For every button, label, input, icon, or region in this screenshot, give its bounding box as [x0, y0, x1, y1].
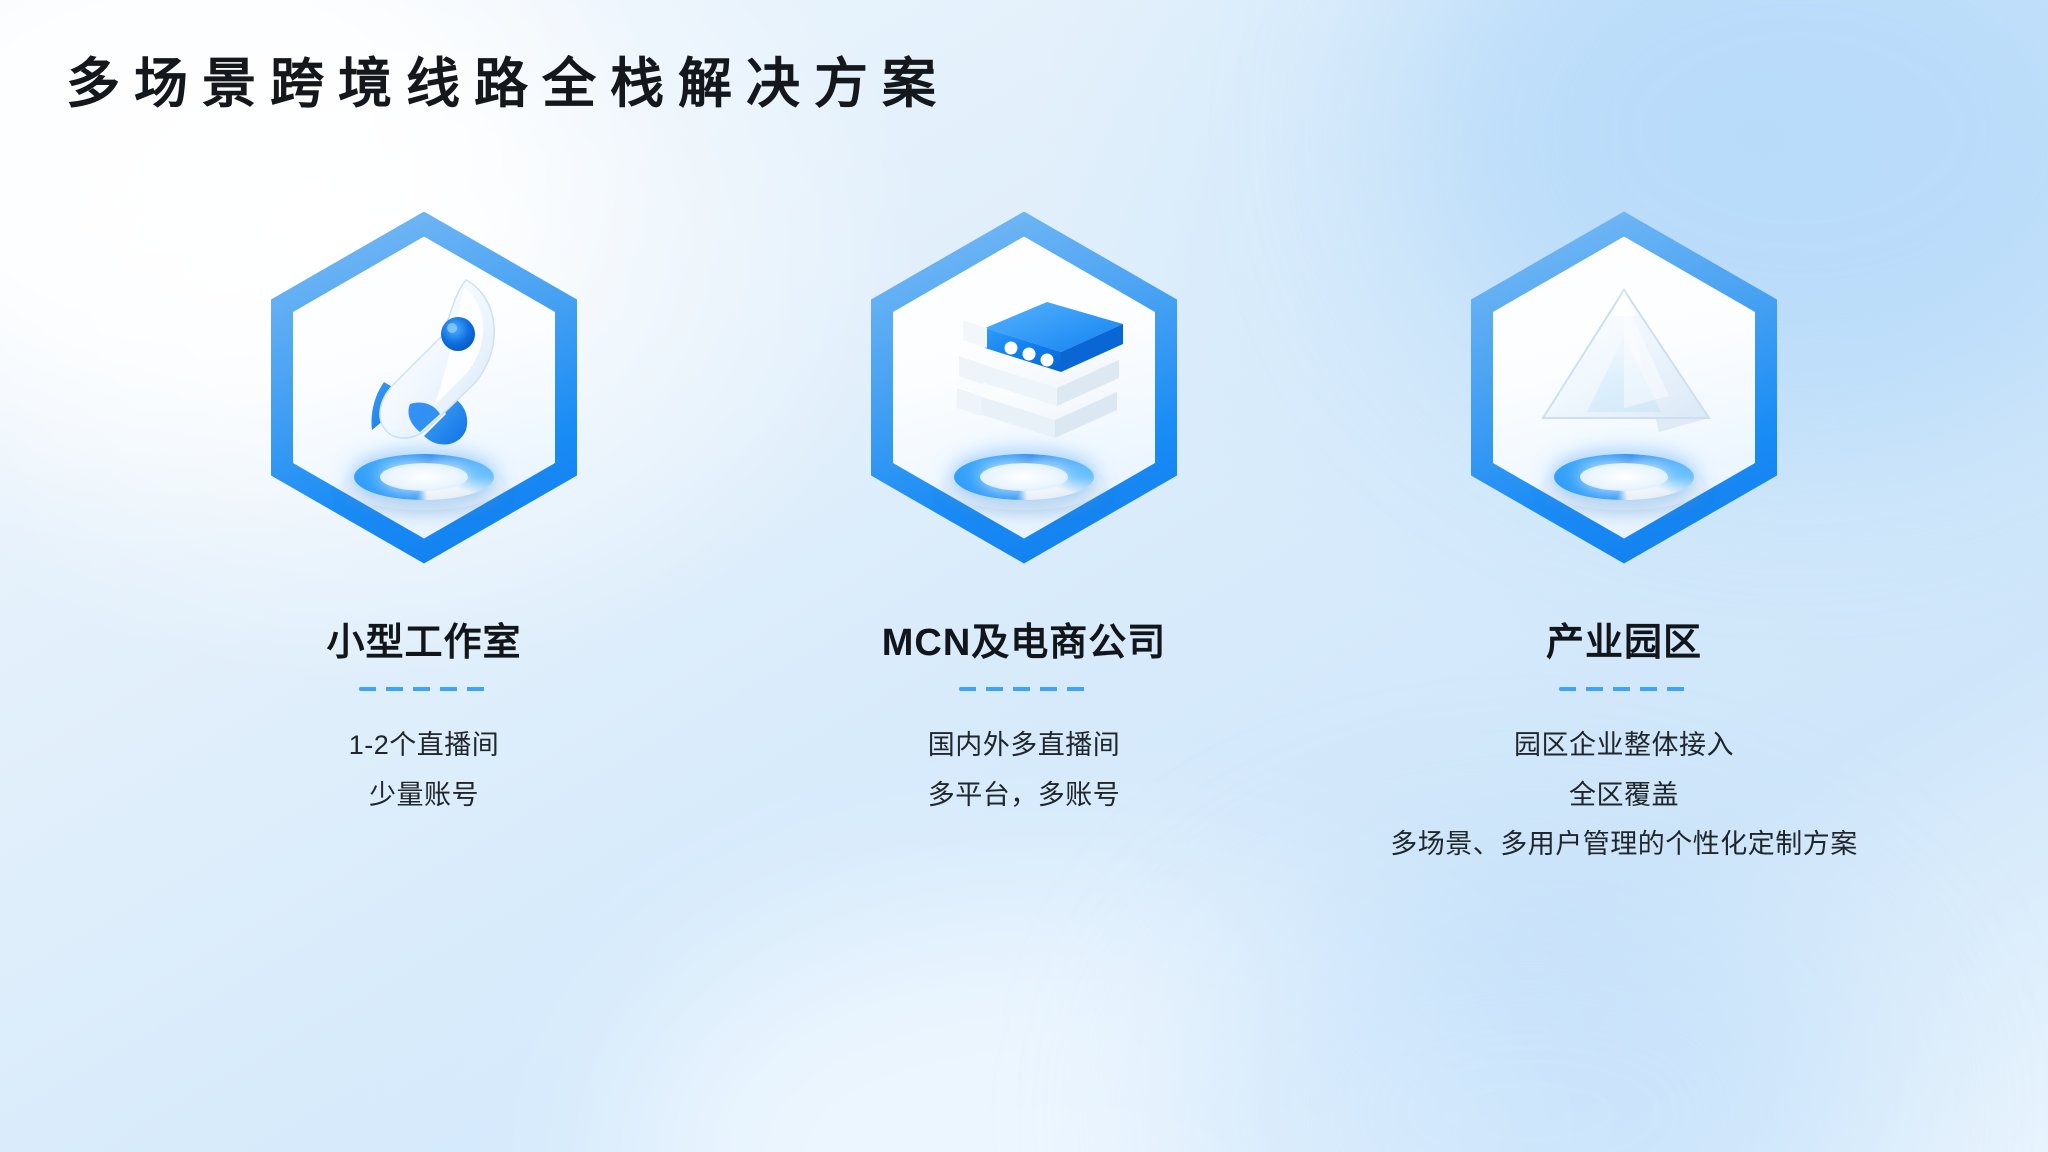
solution-card-small-studio[interactable]: 小型工作室 1-2个直播间 少量账号	[124, 200, 724, 820]
hexagon-badge-3	[1459, 200, 1789, 575]
card-body-line: 多场景、多用户管理的个性化定制方案	[1390, 820, 1858, 870]
card-body-line: 国内外多直播间	[928, 721, 1121, 771]
page-title: 多场景跨境线路全栈解决方案	[66, 52, 950, 117]
card-body-line: 全区覆盖	[1390, 771, 1858, 821]
slide-canvas: 多场景跨境线路全栈解决方案	[0, 0, 2048, 1152]
card-body: 园区企业整体接入 全区覆盖 多场景、多用户管理的个性化定制方案	[1390, 721, 1858, 871]
card-title: 小型工作室	[326, 621, 521, 667]
glow-disc-base-3	[1540, 450, 1708, 512]
solution-card-list: 小型工作室 1-2个直播间 少量账号	[0, 200, 2048, 870]
disc-ring-hole	[380, 463, 468, 491]
glow-disc-base-1	[340, 450, 508, 512]
card-body-line: 少量账号	[349, 771, 500, 821]
rocket-icon	[314, 264, 534, 464]
hexagon-badge-2	[859, 200, 1189, 575]
card-body: 国内外多直播间 多平台，多账号	[928, 721, 1121, 821]
icon-area-3	[1499, 258, 1749, 518]
card-divider	[359, 687, 489, 691]
card-body: 1-2个直播间 少量账号	[349, 721, 500, 821]
card-body-line: 园区企业整体接入	[1390, 721, 1858, 771]
background-glow-bottom-center	[614, 892, 1514, 1152]
card-title: 产业园区	[1546, 621, 1702, 667]
background-glow-bottom-right	[1184, 872, 1884, 1152]
card-divider	[959, 687, 1089, 691]
disc-ring-hole	[980, 463, 1068, 491]
card-title: MCN及电商公司	[882, 621, 1167, 667]
icon-area-2	[899, 258, 1149, 518]
solution-card-industrial-park[interactable]: 产业园区 园区企业整体接入 全区覆盖 多场景、多用户管理的个性化定制方案	[1324, 200, 1924, 870]
glow-disc-base-2	[940, 450, 1108, 512]
server-stack-icon	[919, 266, 1129, 456]
solution-card-mcn-ecommerce[interactable]: MCN及电商公司 国内外多直播间 多平台，多账号	[724, 200, 1324, 820]
card-body-line: 1-2个直播间	[349, 721, 500, 771]
disc-ring-hole	[1580, 463, 1668, 491]
icon-area-1	[299, 258, 549, 518]
card-divider	[1559, 687, 1689, 691]
hexagon-badge-1	[259, 200, 589, 575]
pyramid-icon	[1519, 276, 1729, 456]
card-body-line: 多平台，多账号	[928, 771, 1121, 821]
